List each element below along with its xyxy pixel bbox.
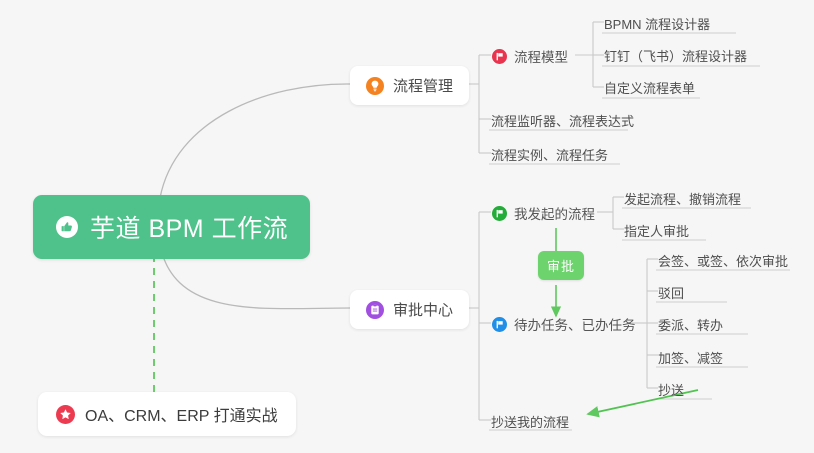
root-node[interactable]: 芋道 BPM 工作流 — [33, 195, 310, 259]
integration-card-label: OA、CRM、ERP 打通实战 — [85, 402, 278, 426]
leaf-item[interactable]: 会签、或签、依次审批 — [658, 249, 788, 272]
branch-approval-center[interactable]: 审批中心 — [350, 290, 469, 329]
branch-label: 流程管理 — [393, 75, 453, 96]
leaf-item[interactable]: 加签、减签 — [658, 346, 723, 369]
clipboard-icon — [366, 301, 384, 319]
leaf-item[interactable]: 钉钉（飞书）流程设计器 — [604, 44, 747, 67]
flag-icon — [492, 317, 507, 332]
sub-node-todo-done-tasks[interactable]: 待办任务、已办任务 — [492, 312, 636, 336]
leaf-item[interactable]: 发起流程、撤销流程 — [624, 187, 741, 210]
leaf-item[interactable]: 流程实例、流程任务 — [491, 143, 608, 166]
sub-node-my-started-processes[interactable]: 我发起的流程 — [492, 201, 595, 225]
thumbs-up-icon — [55, 215, 79, 239]
sub-node-process-model[interactable]: 流程模型 — [492, 44, 568, 68]
leaf-item[interactable]: BPMN 流程设计器 — [604, 12, 710, 35]
leaf-item[interactable]: 驳回 — [658, 281, 684, 304]
leaf-item[interactable]: 流程监听器、流程表达式 — [491, 109, 634, 132]
root-label: 芋道 BPM 工作流 — [90, 209, 288, 245]
star-icon — [56, 405, 75, 424]
sub-node-label: 我发起的流程 — [514, 203, 595, 223]
branch-label: 审批中心 — [393, 299, 453, 320]
approval-badge: 审批 — [538, 251, 584, 280]
mindmap-canvas: 芋道 BPM 工作流 流程管理 审批中心 — [0, 0, 814, 453]
leaf-item[interactable]: 抄送我的流程 — [491, 410, 569, 433]
integration-card[interactable]: OA、CRM、ERP 打通实战 — [38, 392, 296, 436]
sub-node-label: 待办任务、已办任务 — [514, 314, 636, 334]
flag-icon — [492, 206, 507, 221]
flag-icon — [492, 49, 507, 64]
leaf-item[interactable]: 委派、转办 — [658, 313, 723, 336]
lightbulb-icon — [366, 77, 384, 95]
leaf-item[interactable]: 自定义流程表单 — [604, 76, 695, 99]
leaf-item[interactable]: 抄送 — [658, 378, 684, 401]
leaf-item[interactable]: 指定人审批 — [624, 219, 689, 242]
approval-badge-label: 审批 — [547, 256, 575, 275]
branch-process-management[interactable]: 流程管理 — [350, 66, 469, 105]
sub-node-label: 流程模型 — [514, 46, 568, 66]
